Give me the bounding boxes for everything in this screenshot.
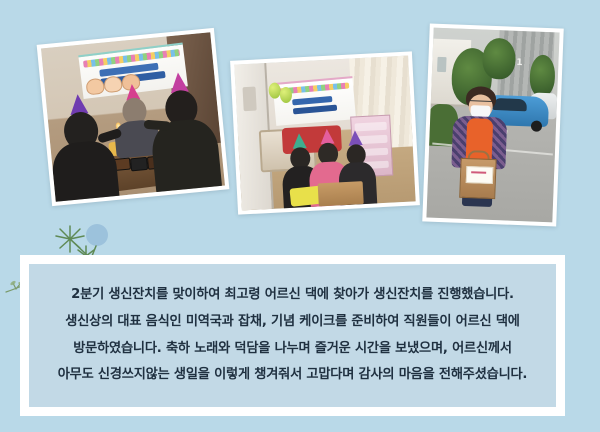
description-line-1: 2분기 생신잔치를 맞이하여 최고령 어르신 댁에 찾아가 생신잔치를 진행했습… bbox=[43, 282, 542, 309]
car-wheel bbox=[531, 120, 543, 131]
banner-text-line-2 bbox=[293, 104, 338, 114]
door-panel bbox=[242, 87, 257, 111]
text-frame-inner: 2분기 생신잔치를 맞이하여 최고령 어르신 댁에 찾아가 생신잔치를 진행했습… bbox=[29, 264, 556, 407]
gift-bag-label bbox=[466, 166, 493, 184]
description-line-2: 생신상의 대표 음식인 미역국과 잡채, 기념 케이크를 준비하여 직원들이 어… bbox=[43, 309, 542, 336]
description-line-3: 방문하였습니다. 축하 노래와 덕담을 나누며 즐거운 시간을 보냈으며, 어르… bbox=[43, 336, 542, 363]
photo-room-group bbox=[230, 51, 420, 214]
building-window bbox=[437, 57, 447, 72]
text-frame: 2분기 생신잔치를 맞이하여 최고령 어르신 댁에 찾아가 생신잔치를 진행했습… bbox=[20, 255, 565, 416]
blue-circle-decoration bbox=[86, 224, 108, 246]
wood-table bbox=[317, 181, 363, 207]
photo-birthday-table-image bbox=[41, 32, 225, 202]
person-staff-right bbox=[150, 76, 218, 189]
photo-birthday-table bbox=[37, 28, 230, 206]
photo-elder-gift: 101 bbox=[422, 24, 564, 227]
person-elder-with-gift bbox=[449, 85, 510, 220]
person-staff-left bbox=[53, 98, 113, 198]
room-group-scene bbox=[234, 56, 415, 211]
elder-gift-scene: 101 bbox=[426, 28, 559, 223]
gift-bag bbox=[460, 158, 498, 199]
balloon-icon bbox=[279, 87, 292, 104]
poster-root: 101 bbox=[0, 0, 600, 432]
description-line-4: 아무도 신경쓰지않는 생일을 이렇게 챙겨줘서 고맙다며 감사의 마음을 전해주… bbox=[43, 362, 542, 389]
photo-elder-gift-image: 101 bbox=[426, 28, 559, 223]
food-dish bbox=[130, 157, 148, 171]
birthday-table-scene bbox=[41, 32, 225, 202]
banner-text-line-1 bbox=[292, 95, 332, 104]
description-paragraph: 2분기 생신잔치를 맞이하여 최고령 어르신 댁에 찾아가 생신잔치를 진행했습… bbox=[29, 282, 556, 389]
photo-room-group-image bbox=[234, 56, 415, 211]
